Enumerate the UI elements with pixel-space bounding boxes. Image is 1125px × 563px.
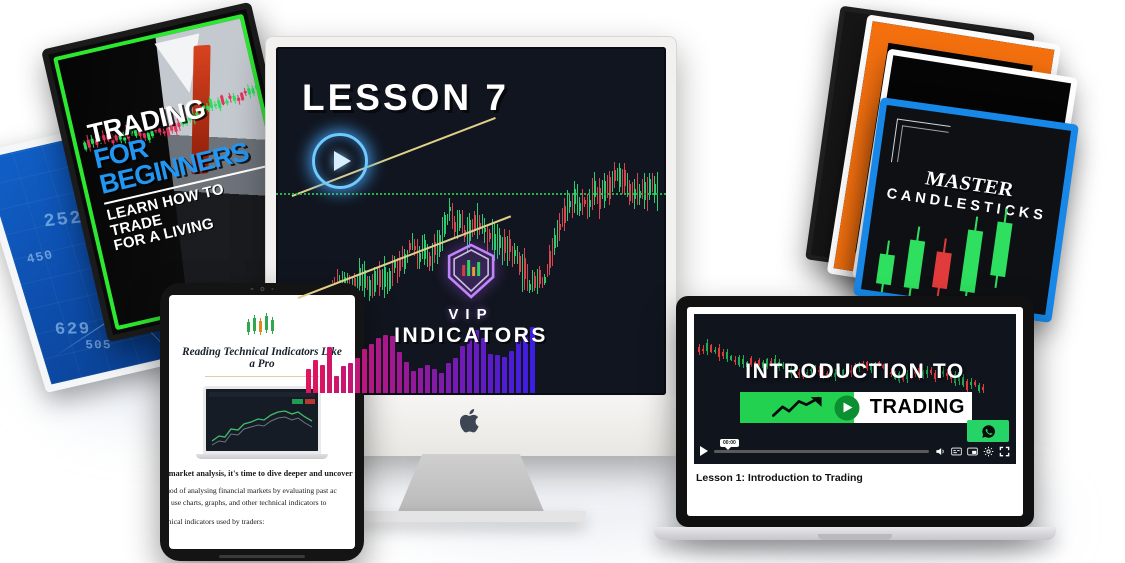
lesson-caption: Lesson 1: Introduction to Trading — [694, 464, 1016, 492]
picture-in-picture-icon[interactable] — [967, 446, 978, 457]
vip-indicators-brand: VIP INDICATORS — [394, 243, 548, 348]
gear-icon[interactable] — [983, 446, 994, 457]
document-paragraph-line1: thod of analysing financial markets by e… — [169, 485, 346, 496]
video-title-line1: INTRODUCTION TO — [745, 360, 965, 384]
whatsapp-badge-icon[interactable] — [967, 420, 1009, 442]
control-icons-group[interactable] — [935, 446, 1010, 457]
time-tooltip: 00:00 — [720, 439, 739, 447]
play-circle-icon[interactable] — [834, 395, 859, 420]
support-level-line — [276, 193, 666, 195]
captions-icon[interactable] — [951, 446, 962, 457]
corner-bracket-ornament — [891, 119, 951, 170]
imac-screen: Take Profit Here +$378 Profit LESSON 7 — [276, 47, 666, 395]
candlestick-logo-icon — [245, 312, 279, 336]
laptop-base-notch — [818, 534, 892, 540]
front-camera-icon — [260, 287, 264, 291]
title-white-panel: TRADING — [854, 392, 972, 423]
indicators-label: INDICATORS — [394, 324, 548, 348]
macbook-screen — [206, 389, 318, 451]
master-candlesticks-book: MASTER CANDLESTICKS — [853, 97, 1079, 323]
sensor-dot — [250, 288, 253, 291]
play-button[interactable] — [700, 446, 708, 456]
document-paragraph-line2: ts use charts, graphs, and other technic… — [169, 497, 346, 508]
progress-bar[interactable] — [714, 450, 929, 453]
ipad-sensors — [250, 287, 273, 291]
video-frame[interactable]: INTRODUCTION TO TRADING — [694, 314, 1016, 464]
uptrend-arrow-icon — [750, 396, 845, 418]
imac-stand-neck — [397, 454, 545, 514]
lesson-title: LESSON 7 — [302, 77, 509, 119]
document-paragraph-line3: hnical indicators used by traders: — [169, 516, 346, 527]
video-title-band: TRADING — [740, 392, 972, 423]
document-lead-paragraph: f market analysis, it's time to dive dee… — [169, 469, 346, 478]
ipad-home-indicator — [219, 555, 305, 558]
macbook-lid — [203, 386, 321, 454]
macbook-base — [196, 454, 328, 459]
video-title-line2: TRADING — [870, 396, 965, 419]
macbook-illustration — [203, 386, 321, 459]
play-triangle — [334, 151, 351, 171]
play-icon[interactable] — [312, 133, 368, 189]
apple-logo-icon — [460, 408, 482, 434]
laptop-video-player: INTRODUCTION TO TRADING — [676, 296, 1034, 527]
video-controls-bar[interactable] — [700, 443, 1010, 459]
shield-candlestick-icon — [445, 243, 497, 299]
product-bundle-stage: 833512354629505202232818252899450 TRADIN… — [0, 0, 1125, 563]
play-triangle — [844, 403, 853, 413]
fullscreen-icon[interactable] — [999, 446, 1010, 457]
vip-label: VIP — [394, 306, 548, 323]
document-body: f market analysis, it's time to dive dee… — [178, 469, 346, 527]
imac-display: Take Profit Here +$378 Profit LESSON 7 — [265, 36, 677, 456]
imac-stand-foot — [356, 511, 586, 522]
laptop-screen: INTRODUCTION TO TRADING — [687, 307, 1023, 516]
sensor-dot — [271, 288, 274, 291]
laptop-lid: INTRODUCTION TO TRADING — [676, 296, 1034, 527]
volume-icon[interactable] — [935, 446, 946, 457]
